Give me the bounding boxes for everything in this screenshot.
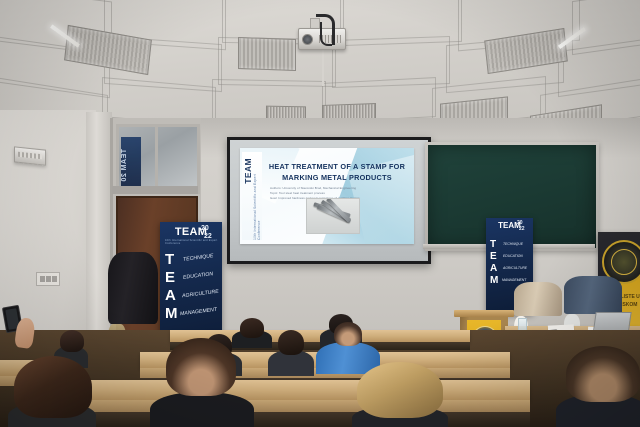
banner-keyword-education: EDUCATION [183,271,214,281]
poster-letter-m: M [490,276,498,286]
emergency-light-fixture [14,146,46,165]
slide-bullet: Topic: Tool steel heat treatment process [270,191,325,195]
poster-keyword-agriculture: AGRICULTURE [503,266,527,270]
bench-row [60,380,530,400]
audience-hand-with-phone [4,306,34,352]
transom-bar [112,186,198,194]
slide-brand-text: TEAM [243,158,253,184]
projector-cable [320,22,332,46]
light-diffuser [18,152,42,160]
panel-member-jacket [564,276,622,314]
poster-year-bottom: 22 [519,226,525,232]
power-outlet[interactable] [36,272,60,286]
slide-photo-metal-punches [306,198,360,234]
transom-mullion [155,127,158,191]
presentation-slide: TEAM 10th International Scientific and E… [240,148,414,244]
banner-year-top: 20 [201,225,209,232]
glass-transom: TEAM 20 [116,124,200,194]
audience-person-front-left [8,356,96,427]
poster-letter-e: E [490,252,497,262]
poster-keyword-technique: TECHNIQUE [503,242,523,246]
bench-shadow [60,412,530,427]
moderator-blazer [514,282,562,316]
ceiling-light-panel [238,37,296,71]
projection-screen-frame: TEAM 10th International Scientific and E… [227,137,431,264]
poster-keyword-education: EDUCATION [503,254,523,258]
banner-subtitle: 10th International Scientific and Expert… [165,239,222,245]
transom-banner-text: TEAM 20 [121,137,141,191]
slide-brand-subtitle: 10th International Scientific and Expert… [253,160,261,240]
audience-person-front-center [156,338,248,427]
presenter-blazer [108,252,158,324]
poster-letter-t: T [490,240,496,250]
poster-brand: TEAM [486,221,533,230]
slide-title-line2: MARKING METAL PRODUCTS [266,173,408,184]
projection-screen-surface: TEAM 10th International Scientific and E… [230,140,428,261]
poster-letter-a: A [490,264,497,274]
audience-person [268,330,314,370]
slide-title-line1: HEAT TREATMENT OF A STAMP FOR [266,162,408,173]
slide-title: HEAT TREATMENT OF A STAMP FOR MARKING ME… [266,162,408,183]
bench-front-panel [60,400,530,412]
audience-person-front-right [352,362,448,427]
slide-brand-sidebar: TEAM 10th International Scientific and E… [242,152,262,240]
seal-inner-ring [611,249,637,275]
banner-brand: TEAM [160,226,222,238]
lecture-hall-photo: TEAM 20 TEAM 10th International Scientif… [0,0,640,427]
banner-keyword-technique: TECHNIQUE [183,253,214,263]
slide-bullet: Authors: University of Slavonski Brod, M… [270,186,356,190]
banner-keyword-agriculture: AGRICULTURE [182,289,219,299]
audience-person-right-edge [556,346,640,427]
projector-pole [322,46,324,86]
banner-keyword-management: MANAGEMENT [180,307,218,317]
lectern-top-surface [454,310,514,317]
projector-lens [302,34,313,45]
